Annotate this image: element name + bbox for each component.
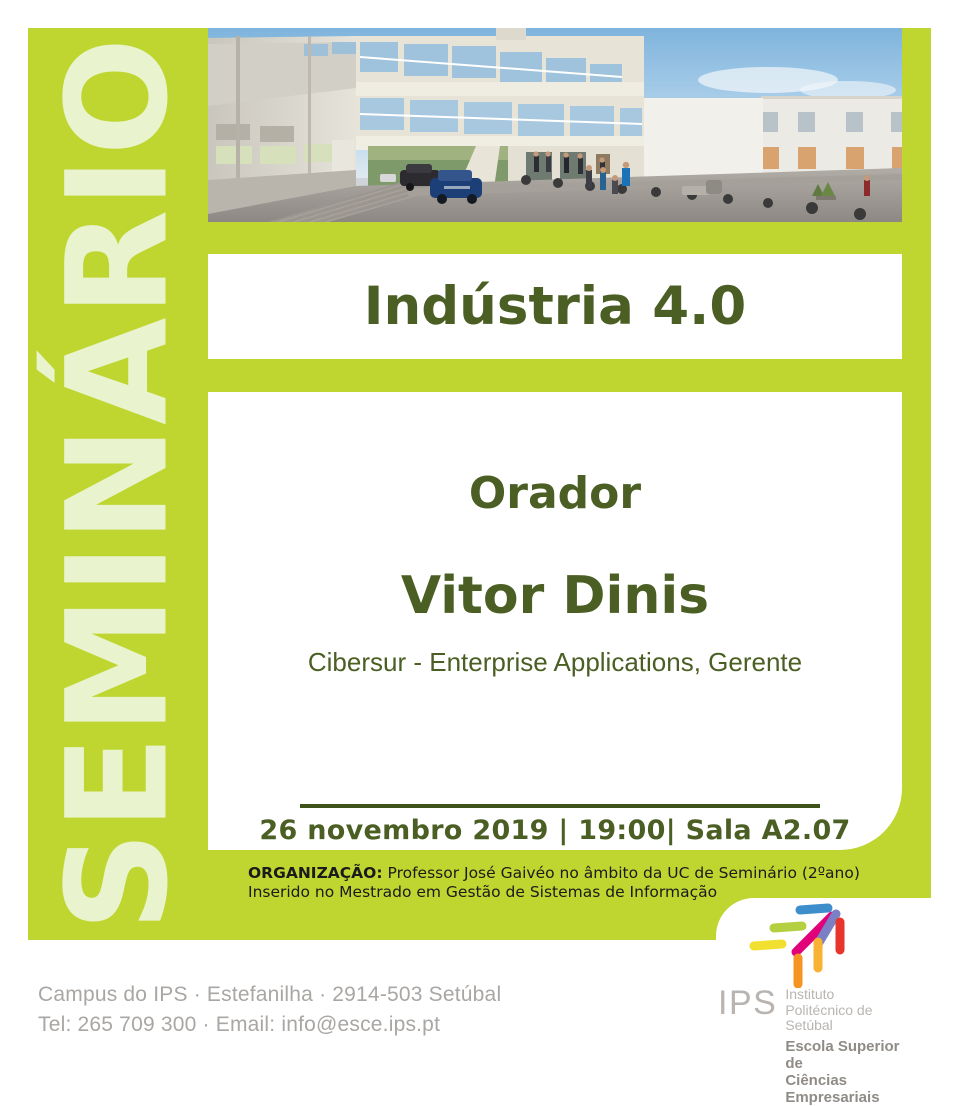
speaker-role: Cibersur - Enterprise Applications, Gere… bbox=[208, 647, 902, 678]
organization-line-1: ORGANIZAÇÃO: Professor José Gaivéo no âm… bbox=[248, 864, 918, 883]
organization-block: ORGANIZAÇÃO: Professor José Gaivéo no âm… bbox=[248, 864, 918, 902]
organization-label: ORGANIZAÇÃO: bbox=[248, 864, 383, 882]
title-box: Indústria 4.0 bbox=[208, 254, 902, 359]
speaker-label: Orador bbox=[208, 468, 902, 519]
ips-logo: IPS Instituto Politécnico de Setúbal Esc… bbox=[718, 900, 918, 1048]
ips-logo-line-4: Ciências Empresariais bbox=[785, 1072, 918, 1106]
divider-rule bbox=[300, 804, 820, 808]
ips-initials: IPS bbox=[718, 986, 785, 1020]
footer-address-line-2: Tel: 265 709 300 · Email: info@esce.ips.… bbox=[38, 1010, 501, 1040]
main-content-box: Orador Vitor Dinis Cibersur - Enterprise… bbox=[208, 392, 902, 850]
speaker-name: Vitor Dinis bbox=[208, 566, 902, 626]
footer-address: Campus do IPS · Estefanilha · 2914-503 S… bbox=[38, 980, 501, 1040]
ips-logo-school-group: Escola Superior de Ciências Empresariais bbox=[785, 1038, 918, 1106]
ips-logo-line-1: Instituto bbox=[785, 987, 918, 1003]
vertical-wordmark-seminario: SEMINÁRIO bbox=[49, 37, 188, 932]
ips-logo-bars-icon bbox=[740, 900, 860, 988]
ips-logo-text: Instituto Politécnico de Setúbal Escola … bbox=[785, 986, 918, 1106]
ips-logo-line-2: Politécnico de Setúbal bbox=[785, 1003, 918, 1034]
ips-wordmark: IPS Instituto Politécnico de Setúbal Esc… bbox=[718, 986, 918, 1106]
page-title: Indústria 4.0 bbox=[364, 276, 746, 337]
vertical-wordmark-container: SEMINÁRIO bbox=[28, 28, 208, 940]
ips-logo-line-3: Escola Superior de bbox=[785, 1038, 918, 1072]
seminar-poster: SEMINÁRIO bbox=[0, 0, 960, 1059]
footer-address-line-1: Campus do IPS · Estefanilha · 2914-503 S… bbox=[38, 980, 501, 1010]
organization-detail: Professor José Gaivéo no âmbito da UC de… bbox=[383, 864, 860, 882]
event-datetime: 26 novembro 2019 | 19:00| Sala A2.07 bbox=[208, 815, 902, 846]
campus-photo-illustration bbox=[208, 28, 902, 222]
campus-photo bbox=[208, 28, 902, 222]
ips-logo-mark-icon bbox=[740, 900, 860, 988]
